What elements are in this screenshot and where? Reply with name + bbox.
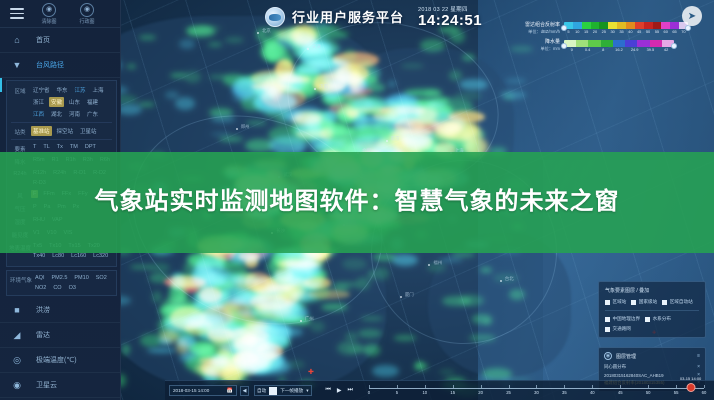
selector-chip[interactable]: 上海 xyxy=(91,85,106,95)
radar-echo-cell xyxy=(283,253,305,261)
radar-echo-cell xyxy=(442,128,485,142)
layer-toggle-label: 区域站 xyxy=(613,299,627,305)
clear-map-icon: ◉ xyxy=(42,3,56,17)
radar-echo-cell xyxy=(425,89,442,99)
sidebar-menu: ■洪涝◢雷达◎极端温度(℃)◉卫星云⚡闪电智慧服务☘ xyxy=(0,298,120,400)
timeline-tick xyxy=(397,385,398,388)
selector-chip[interactable]: 辽宁省 xyxy=(31,85,52,95)
timeline-tick xyxy=(425,385,426,388)
sidebar-tool-label: 清除图 xyxy=(36,18,62,25)
timeline-tick-label: 35 xyxy=(562,390,567,395)
layer-toggle-2[interactable]: 交通路网 xyxy=(605,326,631,332)
radar-echo-cell xyxy=(356,277,370,290)
radar-echo-cell xyxy=(321,303,349,311)
radar-echo-cell xyxy=(342,258,367,270)
radar-echo-cell xyxy=(462,54,475,61)
app-title: 行业用户服务平台 xyxy=(292,7,404,26)
flood-icon: ■ xyxy=(10,305,24,315)
sidebar-nav-label: 首页 xyxy=(36,35,50,45)
radar-echo-cell xyxy=(325,94,354,108)
legend-knob-max[interactable] xyxy=(671,43,677,49)
layer-toggle-0[interactable]: 区域站 xyxy=(605,299,626,305)
layer-toggle-1[interactable]: 国家级站 xyxy=(631,299,657,305)
legend-color-segment xyxy=(650,40,662,47)
radar-echo-cell xyxy=(480,267,492,273)
radar-echo-cell xyxy=(373,253,397,260)
sidebar-menu-label: 洪涝 xyxy=(36,305,50,315)
radar-echo-cell xyxy=(345,332,358,341)
radar-echo-cell xyxy=(288,360,305,369)
radar-echo-cell xyxy=(364,344,380,356)
layer-toggle-row-1: 区域站国家级站区域自动站 xyxy=(605,299,699,305)
article-title-banner: 气象站实时监测地图软件：智慧气象的未来之窗 xyxy=(0,152,714,253)
legend-knob-min[interactable] xyxy=(561,43,567,49)
article-title-text: 气象站实时监测地图软件：智慧气象的未来之窗 xyxy=(53,186,662,218)
checkbox-icon[interactable] xyxy=(662,300,667,305)
legend-color-segment xyxy=(601,40,613,47)
selector-chip[interactable]: TL xyxy=(41,143,51,151)
radar-echo-cell xyxy=(271,327,304,338)
radar-echo-cell xyxy=(211,115,234,122)
radar-echo-cell xyxy=(127,64,136,68)
env-row-items: AQIPM2.5PM10SO2NO2COO3 xyxy=(33,274,114,292)
radar-echo-cell xyxy=(483,319,491,325)
selector-chip[interactable]: PM2.5 xyxy=(49,274,69,282)
legend-color-segment xyxy=(576,40,588,47)
brand-block: 行业用户服务平台 2018 03 22 星期四 14:24:51 xyxy=(265,5,482,29)
radar-echo-cell xyxy=(175,97,195,110)
radar-echo-cell xyxy=(236,81,264,94)
env-row-label: 环境气象 xyxy=(9,274,33,284)
radar-echo-cell xyxy=(230,273,255,283)
sidebar-menu-label: 雷达 xyxy=(36,330,50,340)
legend-bar-1: 降水量单位：mm00.4816.224.939.542 xyxy=(522,39,688,51)
radar-echo-cell xyxy=(337,341,363,355)
radar-echo-cell xyxy=(374,267,389,280)
legend-color-segment xyxy=(625,40,637,47)
legend-color-segment xyxy=(588,40,600,47)
radar-echo-cell xyxy=(310,321,326,333)
legend-gradient xyxy=(564,40,674,47)
radar-echo-cell xyxy=(420,39,445,52)
radar-icon: ◢ xyxy=(10,330,24,341)
radar-echo-cell xyxy=(152,291,161,303)
timeline-mode-value: 自动 xyxy=(257,388,266,394)
selector-chip[interactable]: 广东 xyxy=(85,109,100,119)
sidebar-nav: ⌂首页▼台风路径 xyxy=(0,28,120,78)
radar-echo-cell xyxy=(500,91,526,99)
radar-echo-cell xyxy=(274,116,290,124)
map-marker-icon: ✚ xyxy=(308,368,314,376)
selector-chip[interactable]: DPT xyxy=(83,143,98,151)
hamburger-icon[interactable] xyxy=(10,8,24,19)
timeline-tick xyxy=(648,385,649,388)
radar-echo-cell xyxy=(179,282,207,288)
radar-echo-cell xyxy=(322,65,333,74)
layer-toggle-1[interactable]: 水系分布 xyxy=(645,316,671,322)
layer-list-item-0[interactable]: 同心圆分布× xyxy=(604,363,700,371)
selector-chip[interactable]: 江西 xyxy=(31,109,46,119)
checkbox-icon[interactable] xyxy=(645,317,650,322)
selector-chip[interactable]: PM10 xyxy=(72,274,90,282)
timeline-tick-label: 20 xyxy=(478,390,483,395)
weather-monitoring-app: 北京天津济南郑州南京上海合肥武汉杭州南昌长沙福州厦门广州重庆台北 行业用户服务平… xyxy=(0,0,714,400)
radar-echo-cell xyxy=(204,310,225,319)
selector-chip[interactable]: 河南 xyxy=(67,109,82,119)
radar-echo-cell xyxy=(439,369,455,375)
city-label: 南京 xyxy=(391,136,400,142)
city-dot xyxy=(386,140,388,142)
sidebar-menu-2[interactable]: ◎极端温度(℃) xyxy=(0,348,120,373)
radar-echo-cell xyxy=(148,263,170,272)
radar-echo-cell xyxy=(388,80,396,89)
radar-echo-cell xyxy=(176,289,187,304)
timeline-tick-label: 40 xyxy=(590,390,595,395)
environment-selector-panel: 环境气象AQIPM2.5PM10SO2NO2COO3 xyxy=(6,270,117,296)
layer-list-item-label: 同心圆分布 xyxy=(604,364,626,370)
radar-echo-cell xyxy=(139,35,155,40)
timeline-tick-label: 30 xyxy=(534,390,539,395)
timeline-color-swatch xyxy=(269,387,277,395)
sidebar-tool-1[interactable]: ◉行政图 xyxy=(74,3,100,25)
layer-toggle-label: 中国地理边界 xyxy=(613,316,641,322)
radar-echo-cell xyxy=(469,334,496,342)
sidebar-menu-1[interactable]: ◢雷达 xyxy=(0,323,120,348)
radar-echo-cell xyxy=(290,106,325,126)
legend-bar-unit: 单位：mm xyxy=(522,46,560,52)
city-dot xyxy=(500,280,502,282)
radar-echo-cell xyxy=(164,317,195,331)
checkbox-icon[interactable] xyxy=(605,327,610,332)
selector-row-items: 基准站探空站卫星站 xyxy=(31,126,114,136)
timeline-tick xyxy=(369,385,370,388)
timeline-mode-select[interactable]: 自动 下一帧播放 ▾ xyxy=(254,385,312,396)
radar-echo-cell xyxy=(358,329,382,338)
sidebar-menu-label: 卫星云 xyxy=(36,380,57,390)
platform-logo-icon xyxy=(265,7,285,27)
city-dot xyxy=(300,320,302,322)
sidebar-nav-label: 台风路径 xyxy=(36,60,64,70)
sidebar-accent-bar xyxy=(0,78,2,92)
layer-toggle-0[interactable]: 中国地理边界 xyxy=(605,316,640,322)
checkbox-icon[interactable] xyxy=(605,317,610,322)
radar-echo-cell xyxy=(256,358,291,376)
radar-echo-cell xyxy=(245,256,258,267)
selector-divider xyxy=(11,139,112,140)
radar-echo-cell xyxy=(246,121,267,125)
layer-list-item-label: 20180315162840SAC_AHB19 xyxy=(604,373,664,378)
play-button[interactable]: ▶ xyxy=(337,387,342,394)
timeline-tick-label: 50 xyxy=(646,390,651,395)
checkbox-icon[interactable] xyxy=(631,300,636,305)
satellite-icon: ◉ xyxy=(10,380,24,391)
radar-echo-cell xyxy=(210,132,231,136)
selector-chip[interactable]: AQI xyxy=(33,274,46,282)
selector-divider xyxy=(11,122,112,123)
timeline-tick-label: 0 xyxy=(368,390,370,395)
radar-echo-cell xyxy=(397,147,405,151)
sidebar-nav-0[interactable]: ⌂首页 xyxy=(0,28,120,53)
timeline-tick xyxy=(536,385,537,388)
radar-echo-cell xyxy=(122,344,130,355)
city-label: 济南 xyxy=(319,84,328,90)
selector-chip[interactable]: 浙江 xyxy=(31,97,46,107)
selector-chip[interactable]: 探空站 xyxy=(55,126,76,136)
layer-toggle-label: 国家级站 xyxy=(639,299,657,305)
layer-panel-title: 气象要素图层 / 叠加 xyxy=(605,287,699,294)
selector-chip[interactable]: 卫星站 xyxy=(78,126,99,136)
checkbox-icon[interactable] xyxy=(605,300,610,305)
radar-echo-cell xyxy=(396,96,410,119)
city-label: 福州 xyxy=(433,260,442,266)
radar-echo-cell xyxy=(245,139,274,153)
timeline-mode-label: 下一帧播放 xyxy=(280,388,303,394)
layer-toggle-label: 区域自动站 xyxy=(670,299,693,305)
timeline-toolbar: 2018-03-15 14:00 📅 ◀ 自动 下一帧播放 ▾ ⏮▶⏭ 0510… xyxy=(165,380,714,400)
timeline-tick xyxy=(676,385,677,388)
radar-echo-cell xyxy=(333,282,359,287)
radar-echo-cell xyxy=(179,39,195,50)
timeline-date-input[interactable]: 2018-03-15 14:00 📅 xyxy=(169,385,237,396)
timeline-prev-button[interactable]: ◀ xyxy=(240,386,249,396)
radar-echo-cell xyxy=(326,125,345,133)
radar-echo-cell xyxy=(208,42,222,46)
legend-names: 降水量单位：mm xyxy=(522,39,560,51)
step-back-button[interactable]: ⏮ xyxy=(326,387,331,394)
selector-chip[interactable]: 山东 xyxy=(67,97,82,107)
radar-echo-cell xyxy=(366,83,386,93)
close-icon[interactable]: × xyxy=(697,364,700,370)
clock-time: 14:24:51 xyxy=(418,13,482,29)
timeline-handle-stamp: 03-15 14:00 xyxy=(680,376,701,381)
radar-echo-cell xyxy=(293,50,310,57)
selector-chip[interactable]: Lc80 xyxy=(50,252,66,260)
radar-echo-cell xyxy=(219,136,242,142)
radar-echo-cell xyxy=(505,78,525,84)
layer-list-more-button[interactable]: ≡ xyxy=(697,353,700,359)
timeline-tick xyxy=(564,385,565,388)
radar-echo-cell xyxy=(326,138,344,143)
legend-tick: 16.2 xyxy=(611,47,627,52)
city-label: 郑州 xyxy=(241,124,250,130)
radar-echo-cell xyxy=(413,127,436,137)
timeline-tick xyxy=(453,385,454,388)
layer-list-header: ◉ 图层管理 ≡ xyxy=(604,352,700,360)
legend-color-segment xyxy=(613,40,625,47)
timeline-slider-handle[interactable] xyxy=(686,383,695,392)
city-label: 天津 xyxy=(312,44,321,50)
selector-chip[interactable]: 福建 xyxy=(85,97,100,107)
radar-echo-cell xyxy=(401,64,424,68)
legend-bar-wrap[interactable]: 00.4816.224.939.542 xyxy=(564,40,674,52)
radar-echo-cell xyxy=(509,289,525,300)
timeline-tick-label: 25 xyxy=(506,390,511,395)
selector-chip[interactable]: TM xyxy=(68,143,80,151)
timeline-tick-label: 60 xyxy=(702,390,707,395)
radar-echo-cell xyxy=(225,37,244,43)
sidebar-nav-1[interactable]: ▼台风路径 xyxy=(0,53,120,78)
selector-chip[interactable]: 基准站 xyxy=(31,126,52,136)
city-dot xyxy=(236,128,238,130)
radar-echo-cell xyxy=(394,335,417,340)
selector-row-1: 站类基准站探空站卫星站 xyxy=(9,126,114,136)
radar-echo-cell xyxy=(372,365,398,378)
app-header: 行业用户服务平台 2018 03 22 星期四 14:24:51 ➤ xyxy=(121,0,714,33)
timeline-tick-label: 5 xyxy=(396,390,398,395)
layer-toggle-label: 交通路网 xyxy=(613,326,631,332)
radar-echo-cell xyxy=(414,363,428,369)
selector-chip[interactable]: 安徽 xyxy=(49,97,64,107)
layer-toggle-label: 水系分布 xyxy=(653,316,671,322)
calendar-icon[interactable]: 📅 xyxy=(227,388,233,394)
admin-map-icon: ◉ xyxy=(80,3,94,17)
radar-echo-cell xyxy=(296,69,312,74)
legend-tick: 39.5 xyxy=(643,47,659,52)
timeline-slider-track[interactable]: 05101520253035404550556003-15 14:00 xyxy=(369,384,704,398)
legend-tick: 0.4 xyxy=(580,47,596,52)
radar-echo-cell xyxy=(454,108,478,114)
step-forward-button[interactable]: ⏭ xyxy=(348,387,353,394)
temperature-icon: ◎ xyxy=(10,355,24,366)
timeline-tick-label: 10 xyxy=(422,390,427,395)
legend-tick: 8 xyxy=(595,47,611,52)
timeline-tick-label: 55 xyxy=(674,390,679,395)
legend-color-segment xyxy=(637,40,649,47)
city-label: 台北 xyxy=(505,276,514,282)
radar-echo-cell xyxy=(459,79,489,90)
sidebar-tool-group: ◉清除图◉行政图 xyxy=(36,3,100,25)
timeline-tick xyxy=(704,385,705,388)
selector-row-items: TTLTxTMDPT xyxy=(31,143,114,151)
selector-chip[interactable]: 江苏 xyxy=(73,85,88,95)
timeline-slider-line xyxy=(369,388,704,389)
radar-echo-cell xyxy=(232,96,252,102)
radar-echo-cell xyxy=(438,258,463,263)
sidebar-menu-3[interactable]: ◉卫星云 xyxy=(0,373,120,398)
selector-chip[interactable]: Tx40 xyxy=(31,252,47,260)
timeline-tick-label: 45 xyxy=(618,390,623,395)
selector-chip[interactable]: O3 xyxy=(67,284,78,292)
radar-echo-cell xyxy=(442,296,471,306)
sidebar-menu-label: 极端温度(℃) xyxy=(36,355,77,365)
selector-row-items: 辽宁省华东江苏上海浙江安徽山东福建江西湖北河南广东 xyxy=(31,85,114,119)
sidebar-menu-0[interactable]: ■洪涝 xyxy=(0,298,120,323)
layers-icon: ◉ xyxy=(604,352,612,360)
chevron-down-icon[interactable]: ▾ xyxy=(306,388,308,394)
selector-chip[interactable]: Tx xyxy=(55,143,65,151)
layer-toggle-2[interactable]: 区域自动站 xyxy=(662,299,692,305)
radar-echo-cell xyxy=(454,92,482,100)
selector-chip[interactable]: NO2 xyxy=(33,284,48,292)
radar-echo-cell xyxy=(304,277,332,288)
radar-echo-cell xyxy=(361,316,383,320)
timeline-tick xyxy=(620,385,621,388)
sidebar-tool-0[interactable]: ◉清除图 xyxy=(36,3,62,25)
typhoon-icon: ▼ xyxy=(10,60,24,70)
sidebar-toolbar: ◉清除图◉行政图 xyxy=(0,0,120,28)
selector-chip[interactable]: Lc160 xyxy=(69,252,88,260)
selector-chip[interactable]: 华东 xyxy=(55,85,70,95)
layer-panel-divider xyxy=(605,310,699,311)
city-dot xyxy=(307,48,309,50)
timeline-tick xyxy=(592,385,593,388)
selector-chip[interactable]: CO xyxy=(51,284,63,292)
radar-echo-cell xyxy=(188,341,214,353)
radar-echo-cell xyxy=(185,71,201,83)
clock-block: 2018 03 22 星期四 14:24:51 xyxy=(418,5,482,29)
city-label: 厦门 xyxy=(405,292,414,298)
radar-echo-cell xyxy=(342,49,358,70)
selector-chip[interactable]: SO2 xyxy=(94,274,109,282)
share-icon[interactable]: ➤ xyxy=(682,6,702,26)
radar-echo-cell xyxy=(183,262,211,274)
timeline-tick xyxy=(509,385,510,388)
legend-tick: 24.9 xyxy=(627,47,643,52)
sidebar-tool-label: 行政图 xyxy=(74,18,100,25)
radar-echo-cell xyxy=(449,70,462,81)
selector-row-0: 区域辽宁省华东江苏上海浙江安徽山东福建江西湖北河南广东 xyxy=(9,85,114,119)
radar-echo-cell xyxy=(147,348,176,353)
timeline-playback-controls: ⏮▶⏭ xyxy=(326,387,353,394)
layer-toggle-panel: 气象要素图层 / 叠加 区域站国家级站区域自动站 中国地理边界水系分布交通路网 xyxy=(598,281,706,338)
selector-row-label: 站类 xyxy=(9,126,31,136)
legend-ticks: 00.4816.224.939.542 xyxy=(564,47,674,52)
radar-echo-cell xyxy=(216,357,240,367)
selector-chip[interactable]: Lc320 xyxy=(91,252,110,260)
selector-chip[interactable]: T xyxy=(31,143,38,151)
timeline-date-value: 2018-03-15 14:00 xyxy=(173,388,209,393)
radar-echo-cell xyxy=(315,32,327,41)
selector-row-label: 区域 xyxy=(9,85,31,95)
timeline-tick-label: 15 xyxy=(450,390,455,395)
radar-echo-cell xyxy=(368,270,375,280)
city-label: 广州 xyxy=(305,316,314,322)
timeline-tick xyxy=(481,385,482,388)
home-icon: ⌂ xyxy=(10,35,24,45)
selector-chip[interactable]: 湖北 xyxy=(49,109,64,119)
city-dot xyxy=(400,296,402,298)
radar-echo-cell xyxy=(198,368,218,374)
layer-toggle-row-2: 中国地理边界水系分布交通路网 xyxy=(605,316,699,332)
layer-list-title: 图层管理 xyxy=(616,353,697,360)
